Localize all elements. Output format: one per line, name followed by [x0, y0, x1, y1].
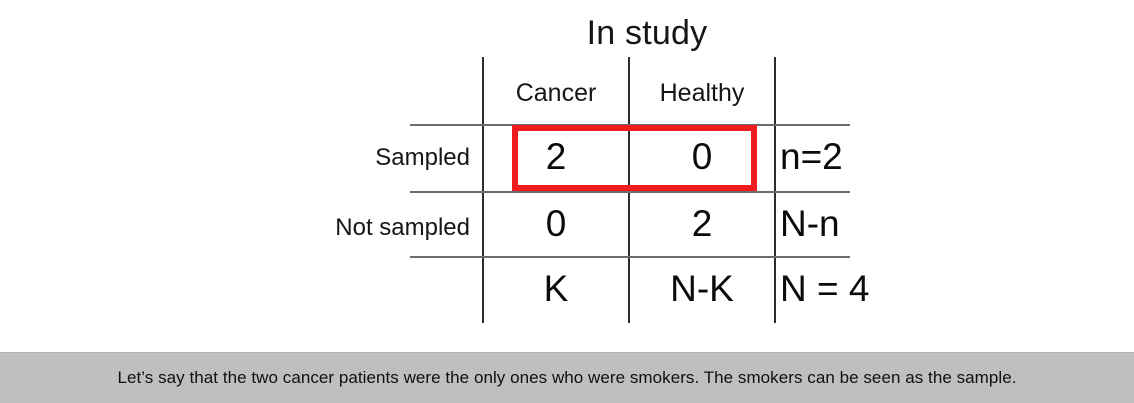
margin-cell-sampled-total: n=2	[780, 134, 960, 180]
margin-cell-not-sampled-total: N-n	[780, 201, 960, 247]
margin-cell-grand-total: N = 4	[780, 266, 960, 312]
table-horizontal-rule-bottom	[410, 256, 850, 258]
column-header-healthy: Healthy	[629, 76, 775, 110]
page-title: In study	[483, 12, 811, 54]
row-label-not-sampled: Not sampled	[180, 212, 470, 244]
cell-total-cancer: K	[483, 266, 629, 312]
slide-canvas: In study Cancer Healthy Sampled Not samp…	[0, 0, 1134, 403]
cell-total-healthy: N-K	[629, 266, 775, 312]
row-label-sampled: Sampled	[180, 142, 470, 174]
caption-bar: Let’s say that the two cancer patients w…	[0, 352, 1134, 403]
cell-not-sampled-cancer: 0	[483, 201, 629, 247]
table-horizontal-rule-middle	[410, 191, 850, 193]
caption-text: Let’s say that the two cancer patients w…	[118, 367, 1017, 389]
cell-sampled-healthy: 0	[629, 134, 775, 180]
column-header-cancer: Cancer	[483, 76, 629, 110]
cell-sampled-cancer: 2	[483, 134, 629, 180]
cell-not-sampled-healthy: 2	[629, 201, 775, 247]
